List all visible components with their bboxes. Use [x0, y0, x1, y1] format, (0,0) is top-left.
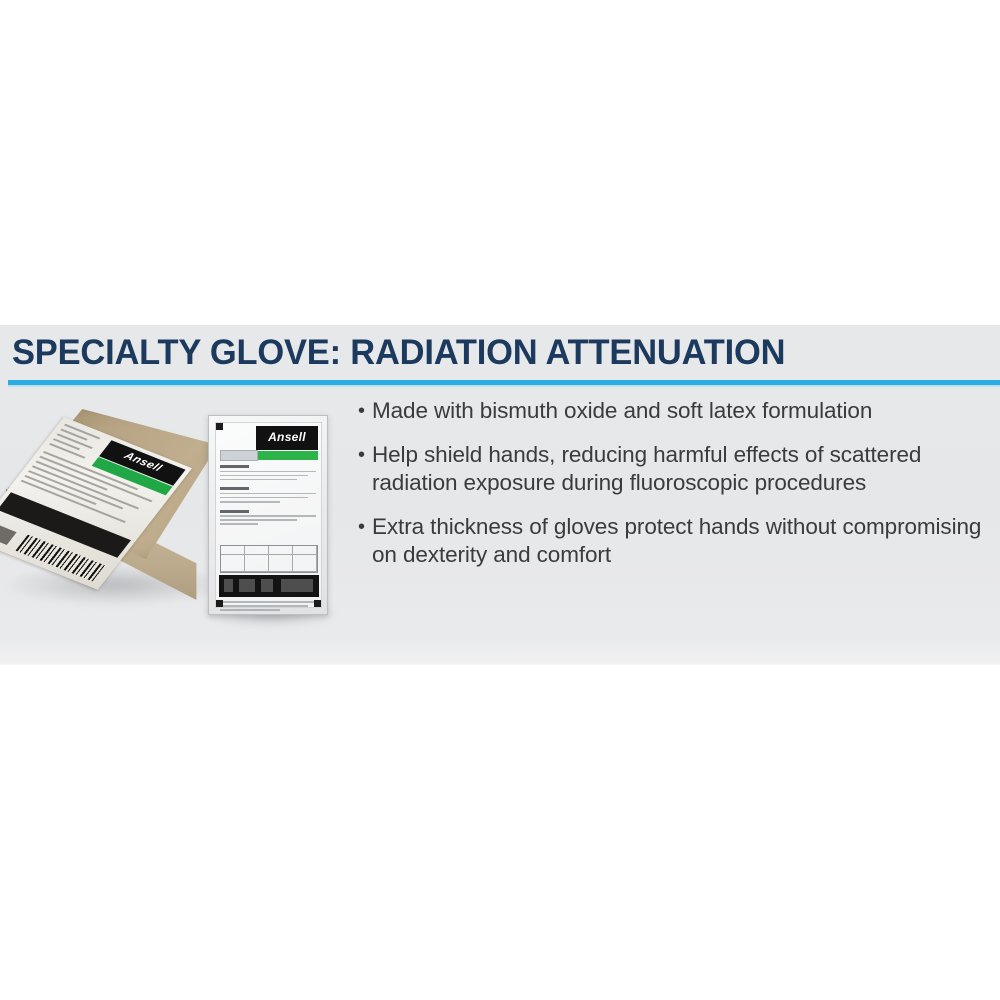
- pouch-text-block-1: [220, 465, 316, 532]
- pouch-corner-mark: [216, 423, 223, 430]
- pouch-spec-table: [220, 545, 318, 573]
- label-icon-block: [0, 523, 17, 545]
- pouch-footer-lines: [220, 601, 316, 613]
- bullet-marker-icon: •: [358, 441, 372, 469]
- ansell-carton-box: Ansell: [6, 409, 231, 594]
- feature-bullet-list: • Made with bismuth oxide and soft latex…: [358, 397, 992, 569]
- page-title: SPECIALTY GLOVE: RADIATION ATTENUATION: [12, 333, 785, 373]
- content-panel: SPECIALTY GLOVE: RADIATION ATTENUATION •…: [0, 325, 1000, 665]
- ansell-logo: Ansell: [256, 426, 318, 450]
- pouch-inner-border: Ansell: [215, 422, 322, 608]
- pouch-corner-mark: [216, 600, 223, 607]
- pouch-size-tag: [220, 450, 258, 461]
- title-underline-rule-soft: [8, 385, 1000, 387]
- list-item: • Help shield hands, reducing harmful ef…: [358, 441, 992, 497]
- pouch-dark-band: [219, 575, 319, 597]
- list-item-text: Help shield hands, reducing harmful effe…: [372, 441, 992, 497]
- product-image-group: Ansell: [0, 403, 350, 653]
- panel-bottom-edge: [0, 659, 1000, 665]
- bullet-marker-icon: •: [358, 513, 372, 541]
- pouch-corner-mark: [314, 600, 321, 607]
- list-item: • Extra thickness of gloves protect hand…: [358, 513, 992, 569]
- bullet-marker-icon: •: [358, 397, 372, 425]
- header: SPECIALTY GLOVE: RADIATION ATTENUATION: [0, 325, 1000, 387]
- list-item-text: Extra thickness of gloves protect hands …: [372, 513, 992, 569]
- list-item: • Made with bismuth oxide and soft latex…: [358, 397, 992, 425]
- ansell-glove-pouch: Ansell: [208, 415, 328, 615]
- list-item-text: Made with bismuth oxide and soft latex f…: [372, 397, 992, 425]
- pouch-accent-bar: [256, 451, 318, 460]
